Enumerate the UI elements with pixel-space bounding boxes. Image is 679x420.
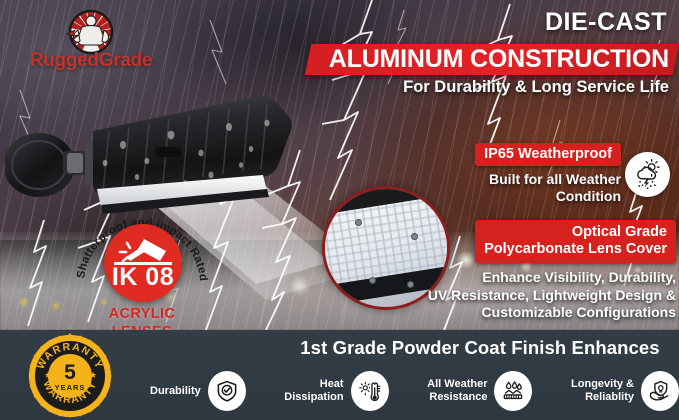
optical-subtitle: Enhance Visibility, Durability, UV Resis… [383,263,676,322]
magnifier-screw [369,277,376,284]
ik08-caption-line-1: ACRYLIC [67,305,217,323]
headline-line-3: For Durability & Long Service Life [318,77,676,98]
optical-grade-callout: Optical Grade Polycarbonate Lens Cover E… [383,220,676,322]
ip65-tag-label: IP65 Weatherproof [475,143,621,166]
shield-check-icon [208,371,246,411]
thermometer-sun-icon [351,371,389,411]
feature-label: All Weather Resistance [427,378,487,404]
feature-item-longevity-reliability: Longevity & Reliablity [571,371,679,411]
feature-item-all-weather-resistance: All Weather Resistance [427,371,532,411]
magnifier-screw [355,219,362,226]
optical-subtitle-line-2: UV Resistance, Lightweight Design & [383,287,676,305]
warranty-unit: YEARS [55,383,86,392]
brand-logo[interactable]: RuggedGrade [16,10,166,72]
feature-label: Durability [150,385,201,398]
svg-text:★: ★ [44,370,52,380]
ik08-circle: IK 08 [104,224,182,302]
brand-name: RuggedGrade [16,50,166,72]
optical-subtitle-line-3: Customizable Configurations [383,304,676,322]
warranty-number: 5 [64,361,76,384]
bottom-bar-title: 1st Grade Powder Coat Finish Enhances [286,337,674,359]
water-repellent-icon [494,371,532,411]
warranty-seal-badge: WARRANTY WARRANTY ★ ★ 5 YEARS [27,333,113,419]
optical-subtitle-line-1: Enhance Visibility, Durability, [383,269,676,287]
feature-item-durability: Durability [150,371,246,411]
headline-line-1: DIE-CAST [318,10,673,35]
product-marketing-banner: RuggedGrade DIE-CAST ALUMINUM CONSTRUCTI… [0,0,679,420]
feature-label: Longevity & Reliablity [571,378,634,404]
ip65-callout: IP65 Weatherproof Built for all Weather … [458,143,673,205]
feature-item-heat-dissipation: Heat Dissipation [284,371,388,411]
ip65-subtitle-line-1: Built for all Weather [458,171,621,188]
headline-block: DIE-CAST ALUMINUM CONSTRUCTION For Durab… [318,10,673,35]
ik08-rating: IK 08 [104,263,182,292]
optical-tag-line-1: Optical Grade [484,224,667,241]
optical-tag-line-2: Polycarbonate Lens Cover [484,241,667,258]
optical-tag-label: Optical Grade Polycarbonate Lens Cover [475,220,676,263]
sun-cloud-rain-lightning-icon [625,152,670,197]
svg-text:★: ★ [89,370,97,380]
headline-line-2: ALUMINUM CONSTRUCTION [318,45,676,74]
ip65-subtitle-line-2: Condition [458,188,621,205]
ik08-badge: Shatterproof and impact Rated IK 08 ACRY… [72,198,212,326]
hand-holding-shield-icon [641,371,679,411]
feature-list: Durability Heat Dissipation [150,368,679,414]
feature-label: Heat Dissipation [284,378,343,404]
